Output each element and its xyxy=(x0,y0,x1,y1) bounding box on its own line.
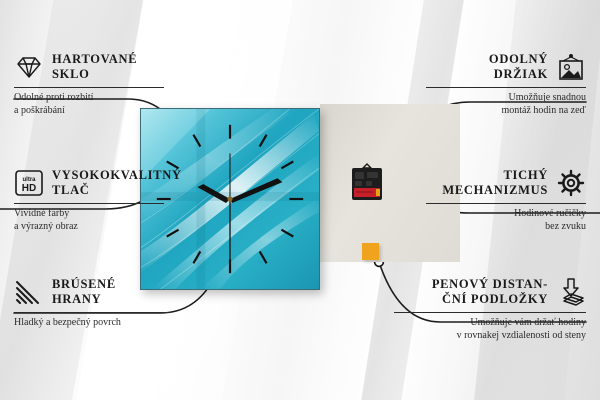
feature-high-quality-print: ultra HD VYSOKOKVALITNÝ TLAČ Vividné far… xyxy=(14,168,164,233)
feature-divider xyxy=(14,87,164,88)
feature-polished-edges: BRÚSENÉ HRANY Hladký a bezpečný povrch xyxy=(14,277,169,330)
feature-title: VYSOKOKVALITNÝ TLAČ xyxy=(52,168,182,198)
feature-silent-mechanism: TICHÝ MECHANIZMUS Hodinové ručičky bez z… xyxy=(426,168,586,233)
gear-icon xyxy=(556,168,586,198)
feature-desc-line1: Umožňuje vám držať hodiny xyxy=(470,317,586,328)
feature-description: Umožňuje vám držať hodiny v rovnakej vzd… xyxy=(394,317,586,342)
feature-title-line2: MECHANIZMUS xyxy=(442,183,548,197)
ultra-hd-icon: ultra HD xyxy=(14,168,44,198)
feature-header: ultra HD VYSOKOKVALITNÝ TLAČ xyxy=(14,168,164,198)
feature-header: TICHÝ MECHANIZMUS xyxy=(426,168,586,198)
feature-header: ODOLNÝ DRŽIAK xyxy=(426,52,586,82)
feature-foam-spacers: PENOVÝ DISTAN- ČNÍ PODLOŽKY Umožňuje vám… xyxy=(394,277,586,342)
feature-description: Umožňuje snadnou montáž hodin na zeď xyxy=(426,92,586,117)
svg-text:HD: HD xyxy=(22,183,36,194)
feature-tempered-glass: HARTOVANÉ SKLO Odolné proti rozbití a po… xyxy=(14,52,164,117)
feature-desc-line2: bez zvuku xyxy=(545,221,586,232)
feature-title-line1: VYSOKOKVALITNÝ xyxy=(52,168,182,182)
brushed-edges-icon xyxy=(14,277,44,307)
feature-description: Odolné proti rozbití a poškrábání xyxy=(14,92,164,117)
picture-hanger-icon xyxy=(556,52,586,82)
feature-desc-line1: Vividné farby xyxy=(14,208,69,219)
feature-title-line2: SKLO xyxy=(52,67,90,81)
feature-title-line1: HARTOVANÉ xyxy=(52,52,137,66)
feature-desc-line1: Odolné proti rozbití xyxy=(14,92,93,103)
feature-title-line1: PENOVÝ DISTAN- xyxy=(432,277,548,291)
feature-divider xyxy=(394,312,586,313)
feature-title-line2: ČNÍ PODLOŽKY xyxy=(442,292,548,306)
feature-desc-line1: Umožňuje snadnou xyxy=(509,92,587,103)
feature-header: BRÚSENÉ HRANY xyxy=(14,277,169,307)
clock-face xyxy=(141,109,319,289)
feature-title: TICHÝ MECHANIZMUS xyxy=(442,168,548,198)
feature-title-line2: TLAČ xyxy=(52,183,90,197)
diamond-icon xyxy=(14,52,44,82)
feature-description: Hladký a bezpečný povrch xyxy=(14,317,169,330)
feature-title-line1: TICHÝ xyxy=(504,168,548,182)
feature-description: Hodinové ručičky bez zvuku xyxy=(426,208,586,233)
feature-title: PENOVÝ DISTAN- ČNÍ PODLOŽKY xyxy=(432,277,548,307)
feature-title-line1: ODOLNÝ xyxy=(489,52,548,66)
feature-divider xyxy=(426,203,586,204)
feature-title: HARTOVANÉ SKLO xyxy=(52,52,137,82)
clock-mechanism xyxy=(349,163,385,203)
feature-desc-line2: montáž hodin na zeď xyxy=(502,105,587,116)
feature-divider xyxy=(426,87,586,88)
feature-title-line1: BRÚSENÉ xyxy=(52,277,116,291)
product-image-clock xyxy=(140,108,320,290)
feature-desc-line1: Hodinové ručičky xyxy=(514,208,586,219)
feature-divider xyxy=(14,203,164,204)
feature-header: HARTOVANÉ SKLO xyxy=(14,52,164,82)
infographic-canvas: HARTOVANÉ SKLO Odolné proti rozbití a po… xyxy=(0,0,600,400)
feature-desc-line2: a výrazný obraz xyxy=(14,221,78,232)
feature-desc-line2: a poškrábání xyxy=(14,105,65,116)
feature-title: ODOLNÝ DRŽIAK xyxy=(489,52,548,82)
foam-spacer-pad xyxy=(362,243,379,260)
feature-title-line2: DRŽIAK xyxy=(494,67,548,81)
feature-description: Vividné farby a výrazný obraz xyxy=(14,208,164,233)
feature-title: BRÚSENÉ HRANY xyxy=(52,277,116,307)
feature-desc-line2: v rovnakej vzdialenosti od steny xyxy=(457,330,586,341)
feature-desc-line1: Hladký a bezpečný povrch xyxy=(14,317,121,328)
feature-header: PENOVÝ DISTAN- ČNÍ PODLOŽKY xyxy=(394,277,586,307)
feature-title-line2: HRANY xyxy=(52,292,101,306)
feature-durable-hanger: ODOLNÝ DRŽIAK Umožňuje snadnou montáž ho… xyxy=(426,52,586,117)
feature-divider xyxy=(14,312,169,313)
foam-pad-icon xyxy=(556,277,586,307)
